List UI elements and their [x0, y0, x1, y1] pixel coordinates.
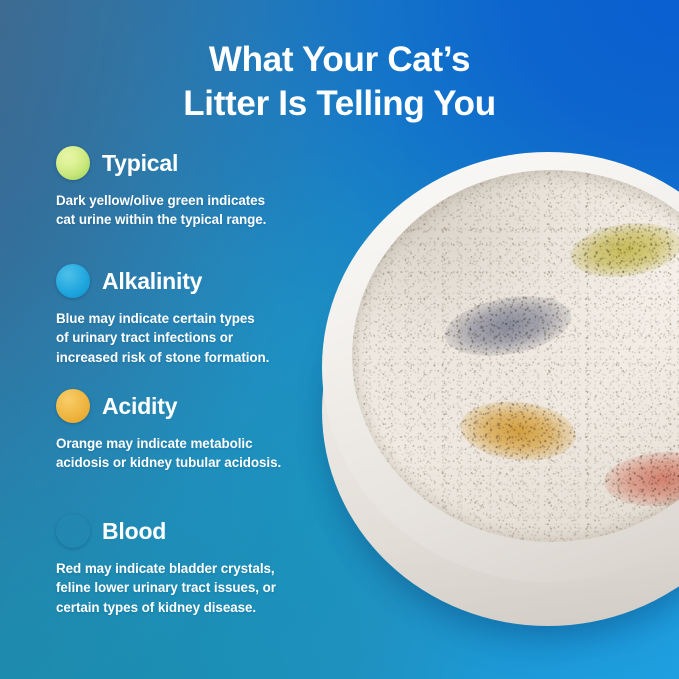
page-title-line-2: Litter Is Telling You — [40, 82, 639, 126]
color-swatch-typical-icon — [56, 146, 90, 180]
color-swatch-blood-icon — [56, 514, 90, 548]
legend-label-alkalinity: Alkalinity — [102, 270, 202, 293]
legend-description-blood: Red may indicate bladder crystals, felin… — [56, 559, 356, 617]
legend-label-typical: Typical — [102, 152, 178, 175]
legend-item-typical: Typical Dark yellow/olive green indicate… — [56, 144, 356, 230]
legend-item-blood: Blood Red may indicate bladder crystals,… — [56, 512, 356, 617]
legend-head-typical: Typical — [56, 144, 356, 182]
color-swatch-alkalinity-icon — [56, 264, 90, 298]
page-title-line-1: What Your Cat’s — [40, 38, 639, 82]
legend-head-alkalinity: Alkalinity — [56, 262, 356, 300]
legend-description-alkalinity: Blue may indicate certain types of urina… — [56, 309, 356, 367]
legend-description-acidity: Orange may indicate metabolic acidosis o… — [56, 434, 356, 473]
legend-item-acidity: Acidity Orange may indicate metabolic ac… — [56, 387, 356, 473]
infographic-root: What Your Cat’s Litter Is Telling You Ty… — [0, 0, 679, 679]
legend-description-typical: Dark yellow/olive green indicates cat ur… — [56, 191, 356, 230]
legend-head-acidity: Acidity — [56, 387, 356, 425]
color-swatch-acidity-icon — [56, 389, 90, 423]
legend-head-blood: Blood — [56, 512, 356, 550]
legend-label-acidity: Acidity — [102, 395, 177, 418]
page-title: What Your Cat’s Litter Is Telling You — [0, 38, 679, 126]
legend-item-alkalinity: Alkalinity Blue may indicate certain typ… — [56, 262, 356, 367]
legend-label-blood: Blood — [102, 520, 166, 543]
